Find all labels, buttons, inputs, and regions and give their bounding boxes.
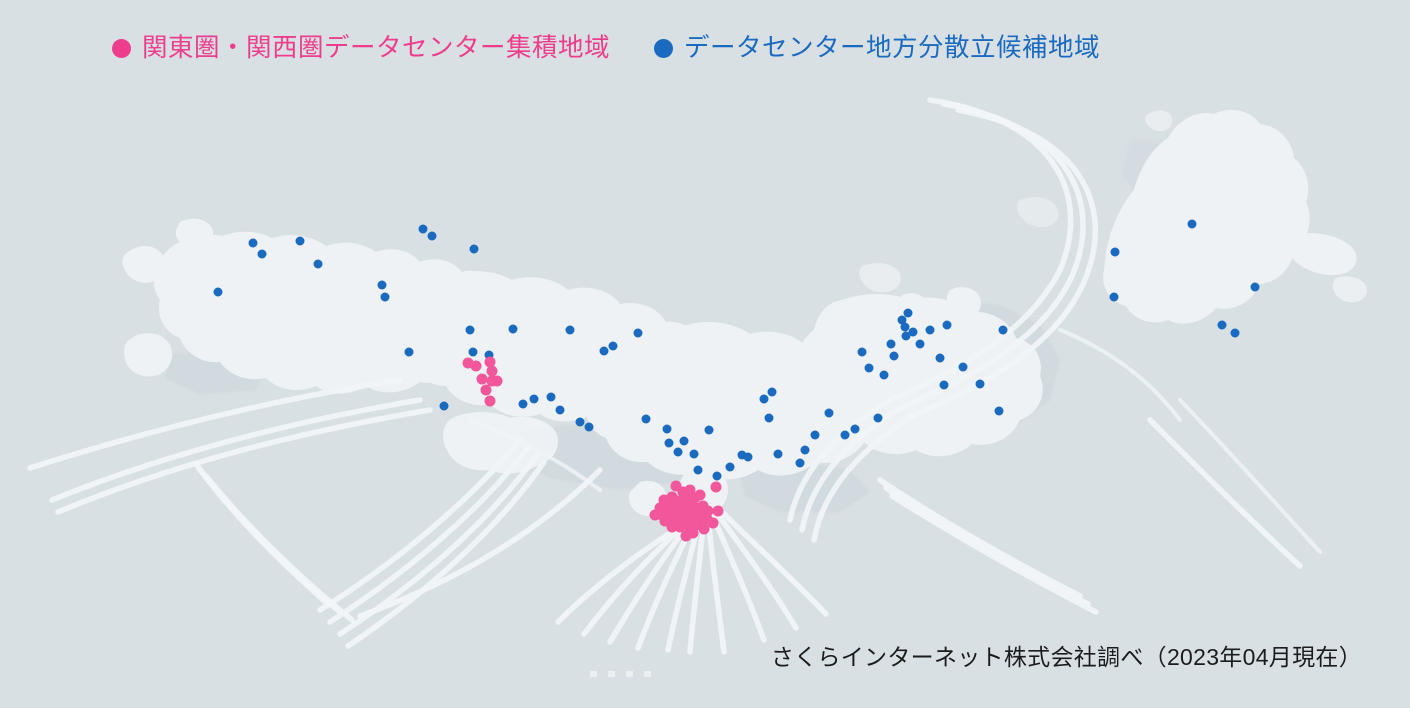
map-infographic: 関東圏・関西圏データセンター集積地域 データセンター地方分散立候補地域 さくらイ… [0, 0, 1410, 708]
japan-map [0, 0, 1410, 708]
legend-item-candidate-label: データセンター地方分散立候補地域 [684, 36, 1100, 62]
legend-item-cluster[interactable]: 関東圏・関西圏データセンター集積地域 [112, 36, 610, 62]
legend-blue-circle-icon [654, 39, 673, 58]
legend-item-cluster-label: 関東圏・関西圏データセンター集積地域 [142, 36, 610, 62]
legend-pink-circle-icon [112, 39, 131, 58]
legend-item-candidate[interactable]: データセンター地方分散立候補地域 [654, 36, 1100, 62]
legend: 関東圏・関西圏データセンター集積地域 データセンター地方分散立候補地域 [112, 36, 1100, 62]
source-credit: さくらインターネット株式会社調べ（2023年04月現在） [771, 638, 1362, 672]
landmass-layer [122, 110, 1367, 516]
map-svg [0, 0, 1410, 708]
